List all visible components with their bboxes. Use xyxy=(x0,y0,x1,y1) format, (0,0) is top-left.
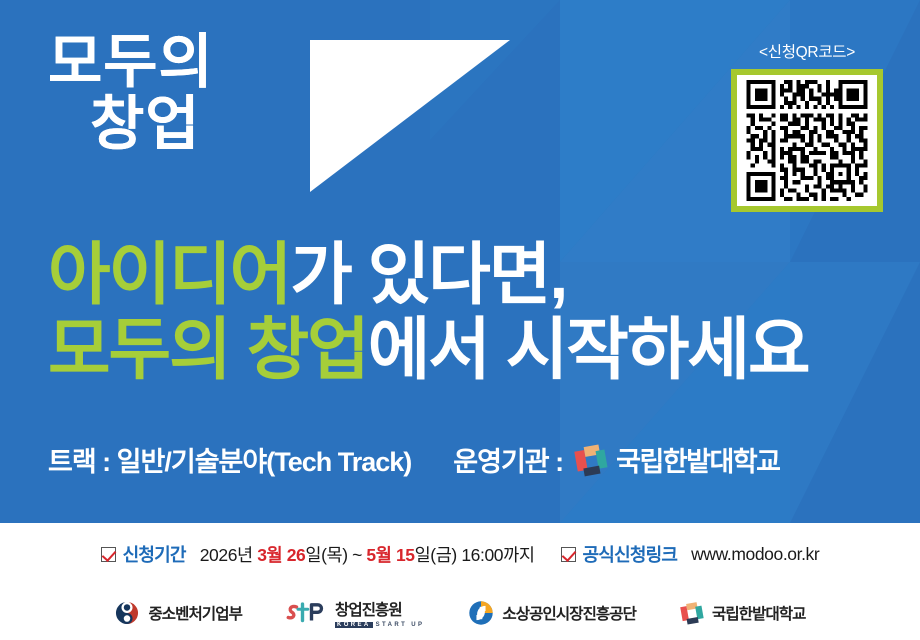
qr-code-inner xyxy=(737,75,877,206)
footer-logo-semas-name: 소상공인시장진흥공단 xyxy=(502,602,636,624)
headline-line1-green: 아이디어 xyxy=(48,237,290,313)
footer-logo-hanbat-name: 국립한밭대학교 xyxy=(712,602,806,624)
brand-wordmark: 모두의 창업 xyxy=(48,34,214,154)
application-period-value: 2026년 3월 26일(목) ~ 5월 15일(금) 16:00까지 xyxy=(200,542,535,567)
checked-box-icon xyxy=(561,547,576,562)
track-text: 트랙 : 일반/기술분야(Tech Track) xyxy=(48,440,411,479)
official-link-label: 공식신청링크 xyxy=(583,541,678,567)
footer-logo-ministry-name: 중소벤처기업부 xyxy=(148,602,242,624)
period-tilde: ~ xyxy=(352,545,362,565)
official-link-url[interactable]: www.modoo.or.kr xyxy=(691,544,819,565)
application-period-group: 신청기간 2026년 3월 26일(목) ~ 5월 15일(금) 16:00까지 xyxy=(101,541,535,567)
brand-wordmark-line2: 창업 xyxy=(48,96,214,154)
footer-logo-hanbat: 국립한밭대학교 xyxy=(680,601,806,625)
footer-logo-kised-name: 창업진흥원 xyxy=(335,598,424,620)
period-end-month: 5월 xyxy=(366,545,391,565)
headline: 아이디어가 있다면, 모두의 창업에서 시작하세요 xyxy=(48,240,809,385)
qr-code-label: <신청QR코드> xyxy=(727,40,887,62)
semas-logo-icon xyxy=(468,600,494,626)
brand-wordmark-line1: 모두의 xyxy=(48,29,214,95)
footer-logo-kised-subtitle: KOREASTART UP xyxy=(335,622,424,628)
headline-line-2: 모두의 창업에서 시작하세요 xyxy=(48,315,809,386)
footer-logo-semas: 소상공인시장진흥공단 xyxy=(468,600,636,626)
hero-banner: 모두의 창업 <신청QR코드> xyxy=(0,0,920,523)
subline: 트랙 : 일반/기술분야(Tech Track) 운영기관 : 국립한밭대학교 xyxy=(48,440,780,479)
period-start-month: 3월 xyxy=(257,545,282,565)
kised-sub-box: KOREA xyxy=(335,622,373,628)
ministry-sme-startups-logo-icon xyxy=(114,600,140,626)
headline-line-1: 아이디어가 있다면, xyxy=(48,240,809,311)
period-end-day-suffix: 일(금) xyxy=(415,545,457,565)
qr-code-block: <신청QR코드> xyxy=(727,40,887,212)
checked-box-icon xyxy=(101,547,116,562)
promotional-poster: 모두의 창업 <신청QR코드> xyxy=(0,0,920,640)
footer-logo-kised: 창업진흥원 KOREASTART UP xyxy=(286,598,424,628)
period-start-day-suffix: 일(목) xyxy=(305,545,347,565)
footer-logo-ministry: 중소벤처기업부 xyxy=(114,600,242,626)
headline-line2-green: 모두의 창업 xyxy=(48,312,368,388)
headline-line1-white: 가 있다면, xyxy=(290,237,566,313)
qr-code-icon xyxy=(742,80,872,201)
footer-logo-strip: 중소벤처기업부 창업진흥원 KOREASTART UP xyxy=(0,585,920,640)
period-start-day: 26 xyxy=(287,545,306,565)
headline-line2-white: 에서 시작하세요 xyxy=(368,312,809,388)
hanbat-university-logo-icon xyxy=(680,601,704,625)
kised-sub-text: START UP xyxy=(376,622,425,628)
hanbat-university-logo-icon xyxy=(575,444,607,476)
period-deadline-time: 16:00까지 xyxy=(461,545,534,565)
period-year: 2026년 xyxy=(200,545,253,565)
operating-org-label: 운영기관 : xyxy=(453,440,563,479)
kised-startup-logo-icon xyxy=(286,601,328,625)
white-triangle-icon xyxy=(310,40,510,192)
application-period-label: 신청기간 xyxy=(123,541,186,567)
period-end-day: 15 xyxy=(396,545,415,565)
official-link-group[interactable]: 공식신청링크 www.modoo.or.kr xyxy=(561,541,820,567)
qr-code-frame[interactable] xyxy=(731,69,883,212)
info-bar: 신청기간 2026년 3월 26일(목) ~ 5월 15일(금) 16:00까지… xyxy=(0,523,920,585)
operating-org-name: 국립한밭대학교 xyxy=(616,440,779,479)
